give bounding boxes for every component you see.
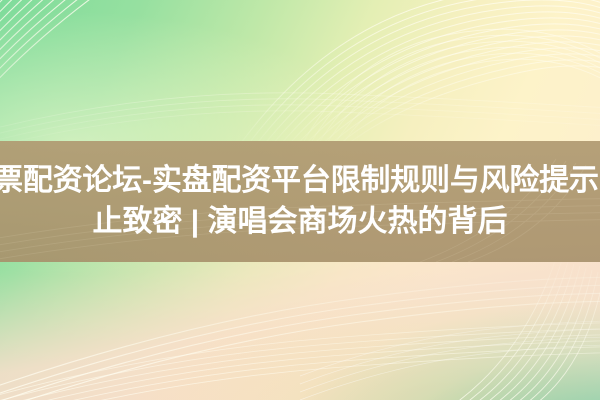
decorative-title-banner: 股票配资论坛-实盘配资平台限制规则与风险提示 举 止致密 | 演唱会商场火热的背… bbox=[0, 0, 600, 400]
banner-title-line-1: 股票配资论坛-实盘配资平台限制规则与风险提示 举 bbox=[0, 163, 600, 199]
title-band: 股票配资论坛-实盘配资平台限制规则与风险提示 举 止致密 | 演唱会商场火热的背… bbox=[0, 141, 600, 262]
banner-title-line-2: 止致密 | 演唱会商场火热的背后 bbox=[92, 204, 507, 240]
banner-title: 股票配资论坛-实盘配资平台限制规则与风险提示 举 止致密 | 演唱会商场火热的背… bbox=[0, 141, 600, 262]
